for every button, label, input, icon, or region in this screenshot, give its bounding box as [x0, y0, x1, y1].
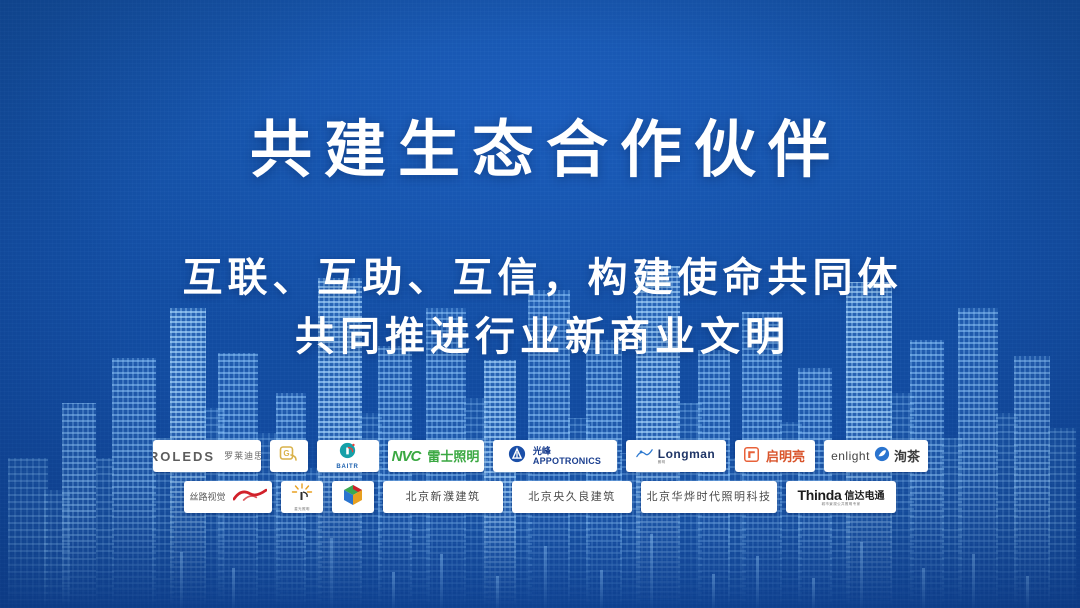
- logo-content: 北京央久良建筑: [528, 492, 616, 503]
- partner-logo-beijing-xinpu[interactable]: 北京新濮建筑: [383, 481, 503, 513]
- partner-logo-color-cube[interactable]: [332, 481, 374, 513]
- gl-badge-icon: G: [279, 445, 299, 467]
- logo-chinese-text: 罗莱迪思: [224, 452, 260, 461]
- logo-content: G: [279, 445, 299, 467]
- logo-chinese-text: 启明亮: [766, 450, 805, 463]
- logo-latin-text: Longman: [658, 448, 716, 460]
- logo-chinese-text: 洵茶: [894, 450, 920, 463]
- logo-chinese-text: 北京华烨时代照明科技: [647, 492, 772, 503]
- partner-logo-qimingliang[interactable]: 启明亮: [735, 440, 815, 472]
- logo-tagline: 朗明: [658, 461, 666, 465]
- partner-logo-wall: ROLEDS罗莱迪思GBAITRNVC雷士照明光峰APPOTRONICSLong…: [0, 440, 1080, 522]
- logo-content: [341, 483, 365, 511]
- appotronics-triangle-icon: [508, 445, 526, 467]
- partner-logo-enlight[interactable]: enlight洵茶: [824, 440, 928, 472]
- partner-logo-row-2: 丝路视觉星光照明北京新濮建筑北京央久良建筑北京华烨时代照明科技Thinda信达电…: [0, 481, 1080, 513]
- logo-latin-text: enlight: [831, 450, 870, 462]
- logo-content: 丝路视觉: [190, 488, 267, 507]
- logo-chinese-text: 星光照明: [294, 508, 310, 512]
- baitr-globe-icon: [339, 442, 356, 463]
- logo-latin-text: APPOTRONICS: [533, 457, 601, 466]
- logo-content: ROLEDS罗莱迪思: [153, 450, 261, 463]
- logo-latin-text: NVC: [392, 449, 421, 464]
- slide-subtitle-line2: 共同推进行业新商业文明: [0, 307, 1080, 366]
- partner-logo-baitr[interactable]: BAITR: [317, 440, 379, 472]
- presentation-slide: 共建生态合作伙伴 互联、互助、互信，构建使命共同体 共同推进行业新商业文明 RO…: [0, 0, 1080, 608]
- qimingliang-square-icon: [744, 447, 759, 466]
- silu-swoosh-icon: [233, 488, 267, 507]
- logo-content: 启明亮: [744, 447, 805, 466]
- partner-logo-star-burst[interactable]: 星光照明: [281, 481, 323, 513]
- partner-logo-nvc-leishi[interactable]: NVC雷士照明: [388, 440, 484, 472]
- logo-latin-text: Thinda: [797, 488, 841, 502]
- logo-content: 星光照明: [291, 483, 313, 512]
- slide-title: 共建生态合作伙伴: [0, 120, 1080, 183]
- logo-content: Thinda信达电通城市景观公共照明专家: [797, 488, 884, 507]
- logo-content: 北京新濮建筑: [406, 492, 481, 503]
- partner-logo-thinda[interactable]: Thinda信达电通城市景观公共照明专家: [786, 481, 896, 513]
- enlight-leaf-icon: [874, 446, 890, 466]
- partner-logo-silu-shijue[interactable]: 丝路视觉: [184, 481, 272, 513]
- logo-chinese-text: 北京新濮建筑: [406, 492, 481, 503]
- partner-logo-beijing-yangjiuliang[interactable]: 北京央久良建筑: [512, 481, 632, 513]
- logo-tagline: 城市景观公共照明专家: [822, 503, 861, 507]
- logo-content: NVC雷士照明: [392, 449, 480, 464]
- partner-logo-beijing-huaye[interactable]: 北京华烨时代照明科技: [641, 481, 777, 513]
- logo-chinese-text: 北京央久良建筑: [528, 492, 616, 503]
- partner-logo-appotronics[interactable]: 光峰APPOTRONICS: [493, 440, 617, 472]
- partner-logo-roleds[interactable]: ROLEDS罗莱迪思: [153, 440, 261, 472]
- logo-content: 光峰APPOTRONICS: [508, 445, 601, 467]
- logo-content: 北京华烨时代照明科技: [647, 492, 772, 503]
- slide-subtitle-line1: 互联、互助、互信，构建使命共同体: [0, 248, 1080, 307]
- logo-chinese-text: 光峰: [533, 447, 551, 456]
- partner-logo-row-1: ROLEDS罗莱迪思GBAITRNVC雷士照明光峰APPOTRONICSLong…: [0, 440, 1080, 472]
- logo-content: Longman朗明: [636, 447, 716, 465]
- subtitle-block: 互联、互助、互信，构建使命共同体 共同推进行业新商业文明: [0, 248, 1080, 366]
- partner-logo-longman[interactable]: Longman朗明: [626, 440, 726, 472]
- starburst-icon: [291, 483, 313, 507]
- svg-text:G: G: [283, 449, 289, 458]
- partner-logo-gl-mark[interactable]: G: [270, 440, 308, 472]
- logo-chinese-text: 信达电通: [845, 492, 885, 502]
- logo-chinese-text: 丝路视觉: [190, 493, 226, 502]
- headline-block: 共建生态合作伙伴: [0, 120, 1080, 183]
- logo-content: enlight洵茶: [831, 446, 920, 466]
- logo-latin-text: ROLEDS: [153, 450, 216, 463]
- longman-swoosh-icon: [636, 447, 653, 465]
- logo-content: BAITR: [336, 442, 358, 470]
- logo-latin-text: BAITR: [336, 464, 358, 470]
- logo-chinese-text: 雷士照明: [427, 450, 479, 463]
- color-cube-icon: [341, 483, 365, 511]
